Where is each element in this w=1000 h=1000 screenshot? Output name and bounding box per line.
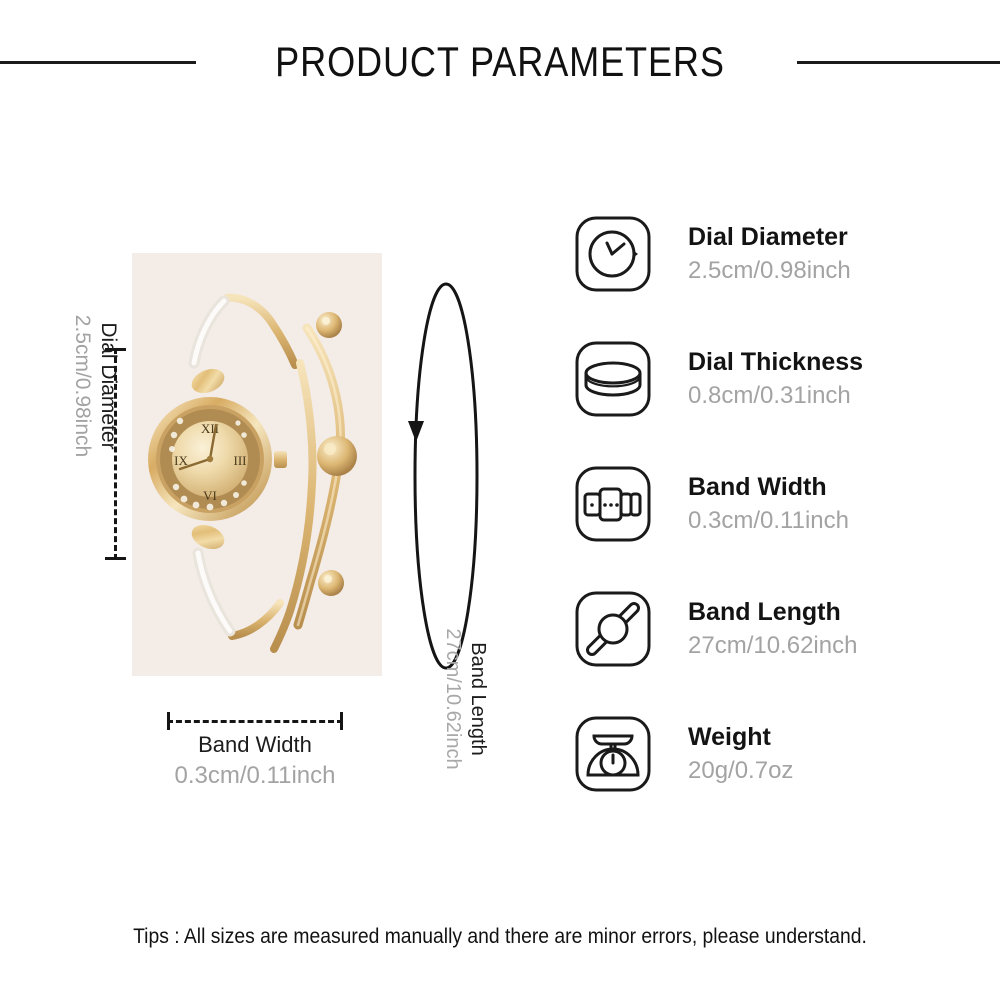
spec-value: 20g/0.7oz <box>688 754 793 788</box>
band-length-callout-label: 27cm/10.62inch Band Length <box>440 569 490 829</box>
svg-text:VI: VI <box>203 488 217 503</box>
page-title: PRODUCT PARAMETERS <box>242 38 758 86</box>
band-length-loop-indicator: 27cm/10.62inch Band Length <box>396 276 496 676</box>
specification-list: Dial Diameter 2.5cm/0.98inch Dial Thickn… <box>574 215 974 840</box>
dimension-cap-right <box>340 712 343 730</box>
page-header: PRODUCT PARAMETERS <box>0 38 1000 88</box>
spec-label: Dial Thickness <box>688 346 863 379</box>
spec-text-band-length: Band Length 27cm/10.62inch <box>688 596 857 663</box>
dial-diameter-callout-title: Dial Diameter <box>95 322 121 449</box>
spec-value: 0.8cm/0.31inch <box>688 379 863 413</box>
product-photo: XII III VI IX <box>132 253 382 676</box>
spec-text-dial-thickness: Dial Thickness 0.8cm/0.31inch <box>688 346 863 413</box>
spec-label: Band Length <box>688 596 857 629</box>
title-rule-left <box>0 61 196 64</box>
kitchen-scale-icon <box>574 715 652 793</box>
spec-label: Band Width <box>688 471 849 504</box>
watch-dial-icon <box>574 215 652 293</box>
dial-diameter-callout-label: 2.5cm/0.98inch Dial Diameter <box>69 286 121 486</box>
band-width-callout-value: 0.3cm/0.11inch <box>120 760 390 792</box>
title-rule-right <box>797 61 1000 64</box>
dimension-rule <box>167 720 343 723</box>
dial-diameter-callout-value: 2.5cm/0.98inch <box>69 315 95 457</box>
spec-row-dial-diameter: Dial Diameter 2.5cm/0.98inch <box>574 215 974 340</box>
band-width-dimension-line <box>167 712 343 730</box>
dimension-cap-bottom <box>105 557 126 560</box>
band-width-callout-title: Band Width <box>120 730 390 760</box>
spec-row-dial-thickness: Dial Thickness 0.8cm/0.31inch <box>574 340 974 465</box>
spec-text-weight: Weight 20g/0.7oz <box>688 721 793 788</box>
spec-text-band-width: Band Width 0.3cm/0.11inch <box>688 471 849 538</box>
spec-label: Dial Diameter <box>688 221 851 254</box>
spec-value: 27cm/10.62inch <box>688 629 857 663</box>
spec-text-dial-diameter: Dial Diameter 2.5cm/0.98inch <box>688 221 851 288</box>
band-length-callout-title: Band Length <box>465 642 490 755</box>
tips-text: Tips : All sizes are measured manually a… <box>40 925 960 949</box>
spec-row-band-width: Band Width 0.3cm/0.11inch <box>574 465 974 590</box>
spec-row-band-length: Band Length 27cm/10.62inch <box>574 590 974 715</box>
watch-strap-icon <box>574 465 652 543</box>
watch-illustration: XII III VI IX <box>132 253 382 676</box>
disc-thickness-icon <box>574 340 652 418</box>
band-length-callout-value: 27cm/10.62inch <box>440 628 465 769</box>
spec-label: Weight <box>688 721 793 754</box>
band-width-callout-label: Band Width 0.3cm/0.11inch <box>120 730 390 792</box>
spec-value: 2.5cm/0.98inch <box>688 254 851 288</box>
spec-value: 0.3cm/0.11inch <box>688 504 849 538</box>
svg-text:III: III <box>234 453 247 468</box>
spec-row-weight: Weight 20g/0.7oz <box>574 715 974 840</box>
watch-diagonal-icon <box>574 590 652 668</box>
